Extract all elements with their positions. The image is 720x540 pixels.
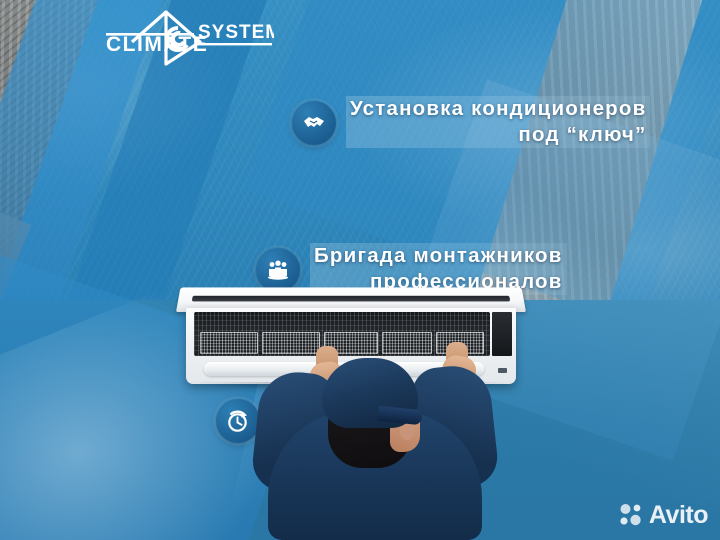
avito-wordmark: Avito	[649, 503, 708, 528]
feature-item-turnkey-installation: Установка кондиционеров под “ключ”	[0, 44, 720, 118]
technician	[250, 352, 500, 540]
ac-side-compartment	[492, 312, 512, 356]
ac-panel-slot	[192, 296, 510, 302]
promo-banner: CLIMATE SYSTEMS Установка кондиционеров …	[0, 0, 720, 540]
ac-filter	[382, 332, 432, 354]
avito-watermark: Avito	[618, 502, 708, 528]
ac-filter	[200, 332, 258, 354]
feature-item-professional-crew: Бригада монтажников профессионалов	[0, 118, 720, 192]
logo-text-systems: SYSTEMS	[198, 22, 274, 43]
feature-list: Установка кондиционеров под “ключ” Брига…	[0, 44, 720, 266]
feature-item-same-day-installation: Установка в день обращения	[0, 192, 720, 266]
logo-rule-left	[106, 33, 194, 36]
ac-filter	[262, 332, 320, 354]
avito-dots-icon	[618, 502, 644, 528]
